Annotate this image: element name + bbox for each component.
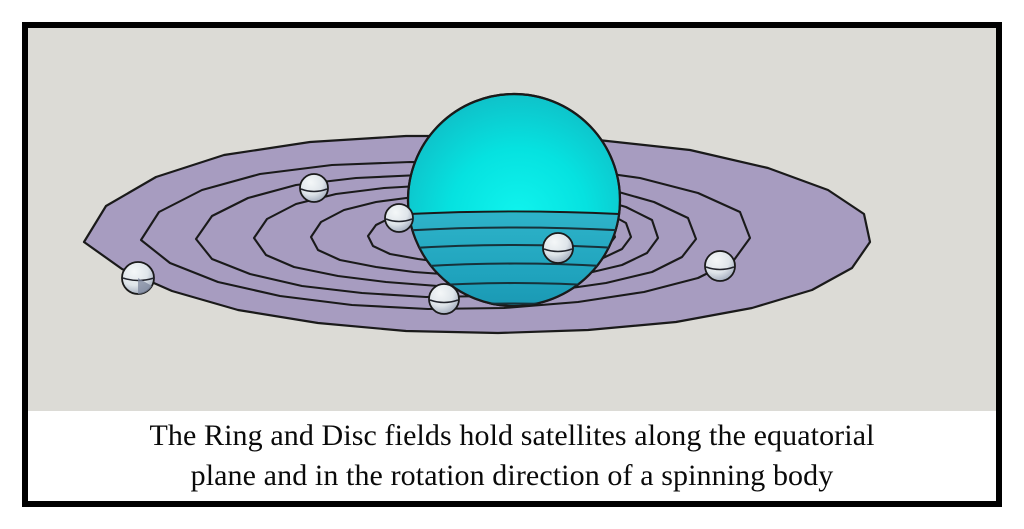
caption-line-1: The Ring and Disc fields hold satellites… bbox=[149, 416, 874, 456]
figure-frame: The Ring and Disc fields hold satellites… bbox=[22, 22, 1002, 507]
figure-caption: The Ring and Disc fields hold satellites… bbox=[28, 411, 996, 501]
figure-root: The Ring and Disc fields hold satellites… bbox=[0, 0, 1024, 529]
illustration-panel bbox=[28, 28, 996, 411]
ring-disc-illustration bbox=[28, 28, 996, 411]
satellite-far-left bbox=[122, 262, 154, 296]
caption-line-2: plane and in the rotation direction of a… bbox=[191, 456, 834, 496]
